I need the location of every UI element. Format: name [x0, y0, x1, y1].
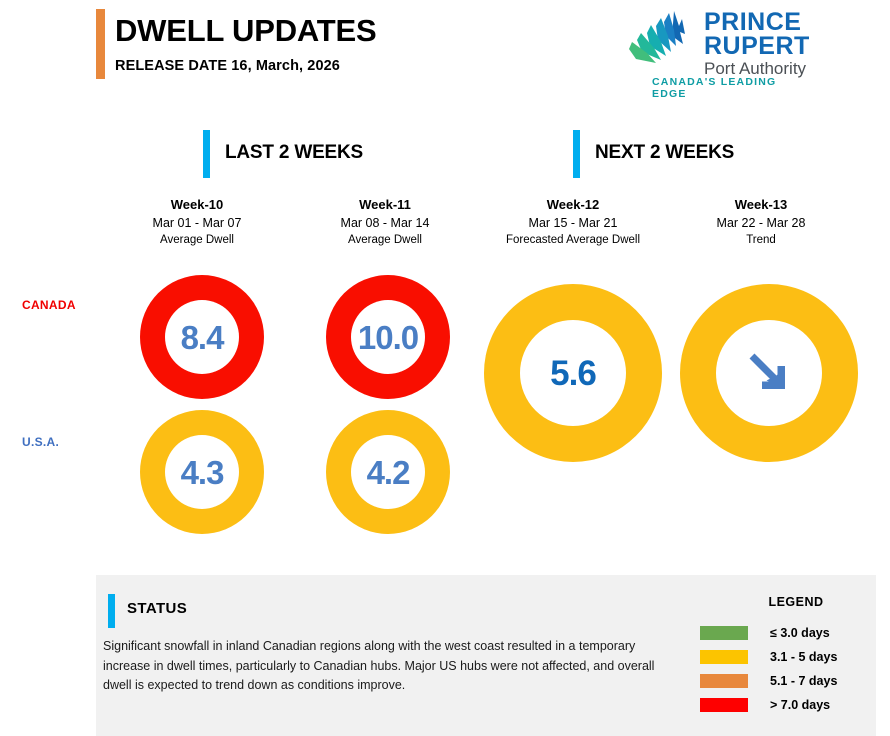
- week-metric-desc: Trend: [666, 232, 856, 249]
- row-label-canada: CANADA: [22, 298, 76, 312]
- legend-title: LEGEND: [716, 595, 876, 609]
- legend-label: ≤ 3.0 days: [770, 626, 830, 640]
- logo-line-rupert: RUPERT: [704, 34, 810, 58]
- legend-swatch-yellow: [700, 650, 748, 664]
- donut-hole: [716, 320, 822, 426]
- logo-wordmark: PRINCE RUPERT Port Authority: [704, 10, 810, 79]
- dwell-updates-infographic: DWELL UPDATES RELEASE DATE 16, March, 20…: [0, 0, 890, 736]
- week-dates: Mar 01 - Mar 07: [102, 214, 292, 232]
- banner-label: NEXT 2 WEEKS: [595, 142, 734, 164]
- donut-hole: 5.6: [520, 320, 626, 426]
- donut-hole: 10.0: [351, 300, 425, 374]
- week-metric-desc: Average Dwell: [102, 232, 292, 249]
- week-number: Week-11: [290, 196, 480, 214]
- donut-forecast-week-12: 5.6: [484, 284, 662, 462]
- banner-accent-bar: [203, 130, 210, 178]
- donut-value: 4.3: [181, 456, 224, 489]
- title-accent-bar: [96, 9, 105, 79]
- maple-leaf-icon: [628, 10, 700, 68]
- legend-item: ≤ 3.0 days: [700, 622, 876, 644]
- page-title: DWELL UPDATES: [115, 12, 376, 50]
- legend: LEGEND ≤ 3.0 days 3.1 - 5 days 5.1 - 7 d…: [700, 595, 876, 718]
- legend-label: > 7.0 days: [770, 698, 830, 712]
- legend-swatch-red: [700, 698, 748, 712]
- week-dates: Mar 22 - Mar 28: [666, 214, 856, 232]
- donut-usa-week-10: 4.3: [140, 410, 264, 534]
- donut-hole: 4.3: [165, 435, 239, 509]
- donut-usa-week-11: 4.2: [326, 410, 450, 534]
- release-date: RELEASE DATE 16, March, 2026: [115, 58, 340, 74]
- donut-trend-week-13: [680, 284, 858, 462]
- banner-label: LAST 2 WEEKS: [225, 142, 363, 164]
- donut-value: 4.2: [367, 456, 410, 489]
- row-label-usa: U.S.A.: [22, 435, 59, 449]
- week-metric-desc: Average Dwell: [290, 232, 480, 249]
- status-text: Significant snowfall in inland Canadian …: [103, 637, 683, 696]
- logo-line-prince: PRINCE: [704, 10, 810, 34]
- legend-item: 3.1 - 5 days: [700, 646, 876, 668]
- week-metric-desc: Forecasted Average Dwell: [478, 232, 668, 249]
- donut-value: 8.4: [181, 321, 224, 354]
- week-dates: Mar 15 - Mar 21: [478, 214, 668, 232]
- page-header: DWELL UPDATES RELEASE DATE 16, March, 20…: [0, 0, 890, 110]
- legend-swatch-orange: [700, 674, 748, 688]
- logo-tagline: CANADA'S LEADING EDGE: [652, 76, 808, 100]
- donut-value: 5.6: [550, 356, 596, 391]
- week-number: Week-12: [478, 196, 668, 214]
- donut-canada-week-11: 10.0: [326, 275, 450, 399]
- status-title: STATUS: [127, 600, 187, 617]
- status-accent-bar: [108, 594, 115, 628]
- legend-label: 5.1 - 7 days: [770, 674, 837, 688]
- legend-item: 5.1 - 7 days: [700, 670, 876, 692]
- donut-hole: 8.4: [165, 300, 239, 374]
- week-header-week-12: Week-12 Mar 15 - Mar 21 Forecasted Avera…: [478, 196, 668, 249]
- prince-rupert-port-authority-logo: PRINCE RUPERT Port Authority CANADA'S LE…: [628, 8, 808, 92]
- legend-item: > 7.0 days: [700, 694, 876, 716]
- donut-canada-week-10: 8.4: [140, 275, 264, 399]
- week-header-week-10: Week-10 Mar 01 - Mar 07 Average Dwell: [102, 196, 292, 249]
- arrow-down-right-icon: [742, 346, 796, 400]
- donut-hole: 4.2: [351, 435, 425, 509]
- week-dates: Mar 08 - Mar 14: [290, 214, 480, 232]
- banner-accent-bar: [573, 130, 580, 178]
- week-header-week-13: Week-13 Mar 22 - Mar 28 Trend: [666, 196, 856, 249]
- donut-value: 10.0: [358, 321, 418, 354]
- week-header-week-11: Week-11 Mar 08 - Mar 14 Average Dwell: [290, 196, 480, 249]
- status-panel: STATUS Significant snowfall in inland Ca…: [96, 575, 876, 736]
- week-number: Week-13: [666, 196, 856, 214]
- legend-label: 3.1 - 5 days: [770, 650, 837, 664]
- week-number: Week-10: [102, 196, 292, 214]
- legend-swatch-green: [700, 626, 748, 640]
